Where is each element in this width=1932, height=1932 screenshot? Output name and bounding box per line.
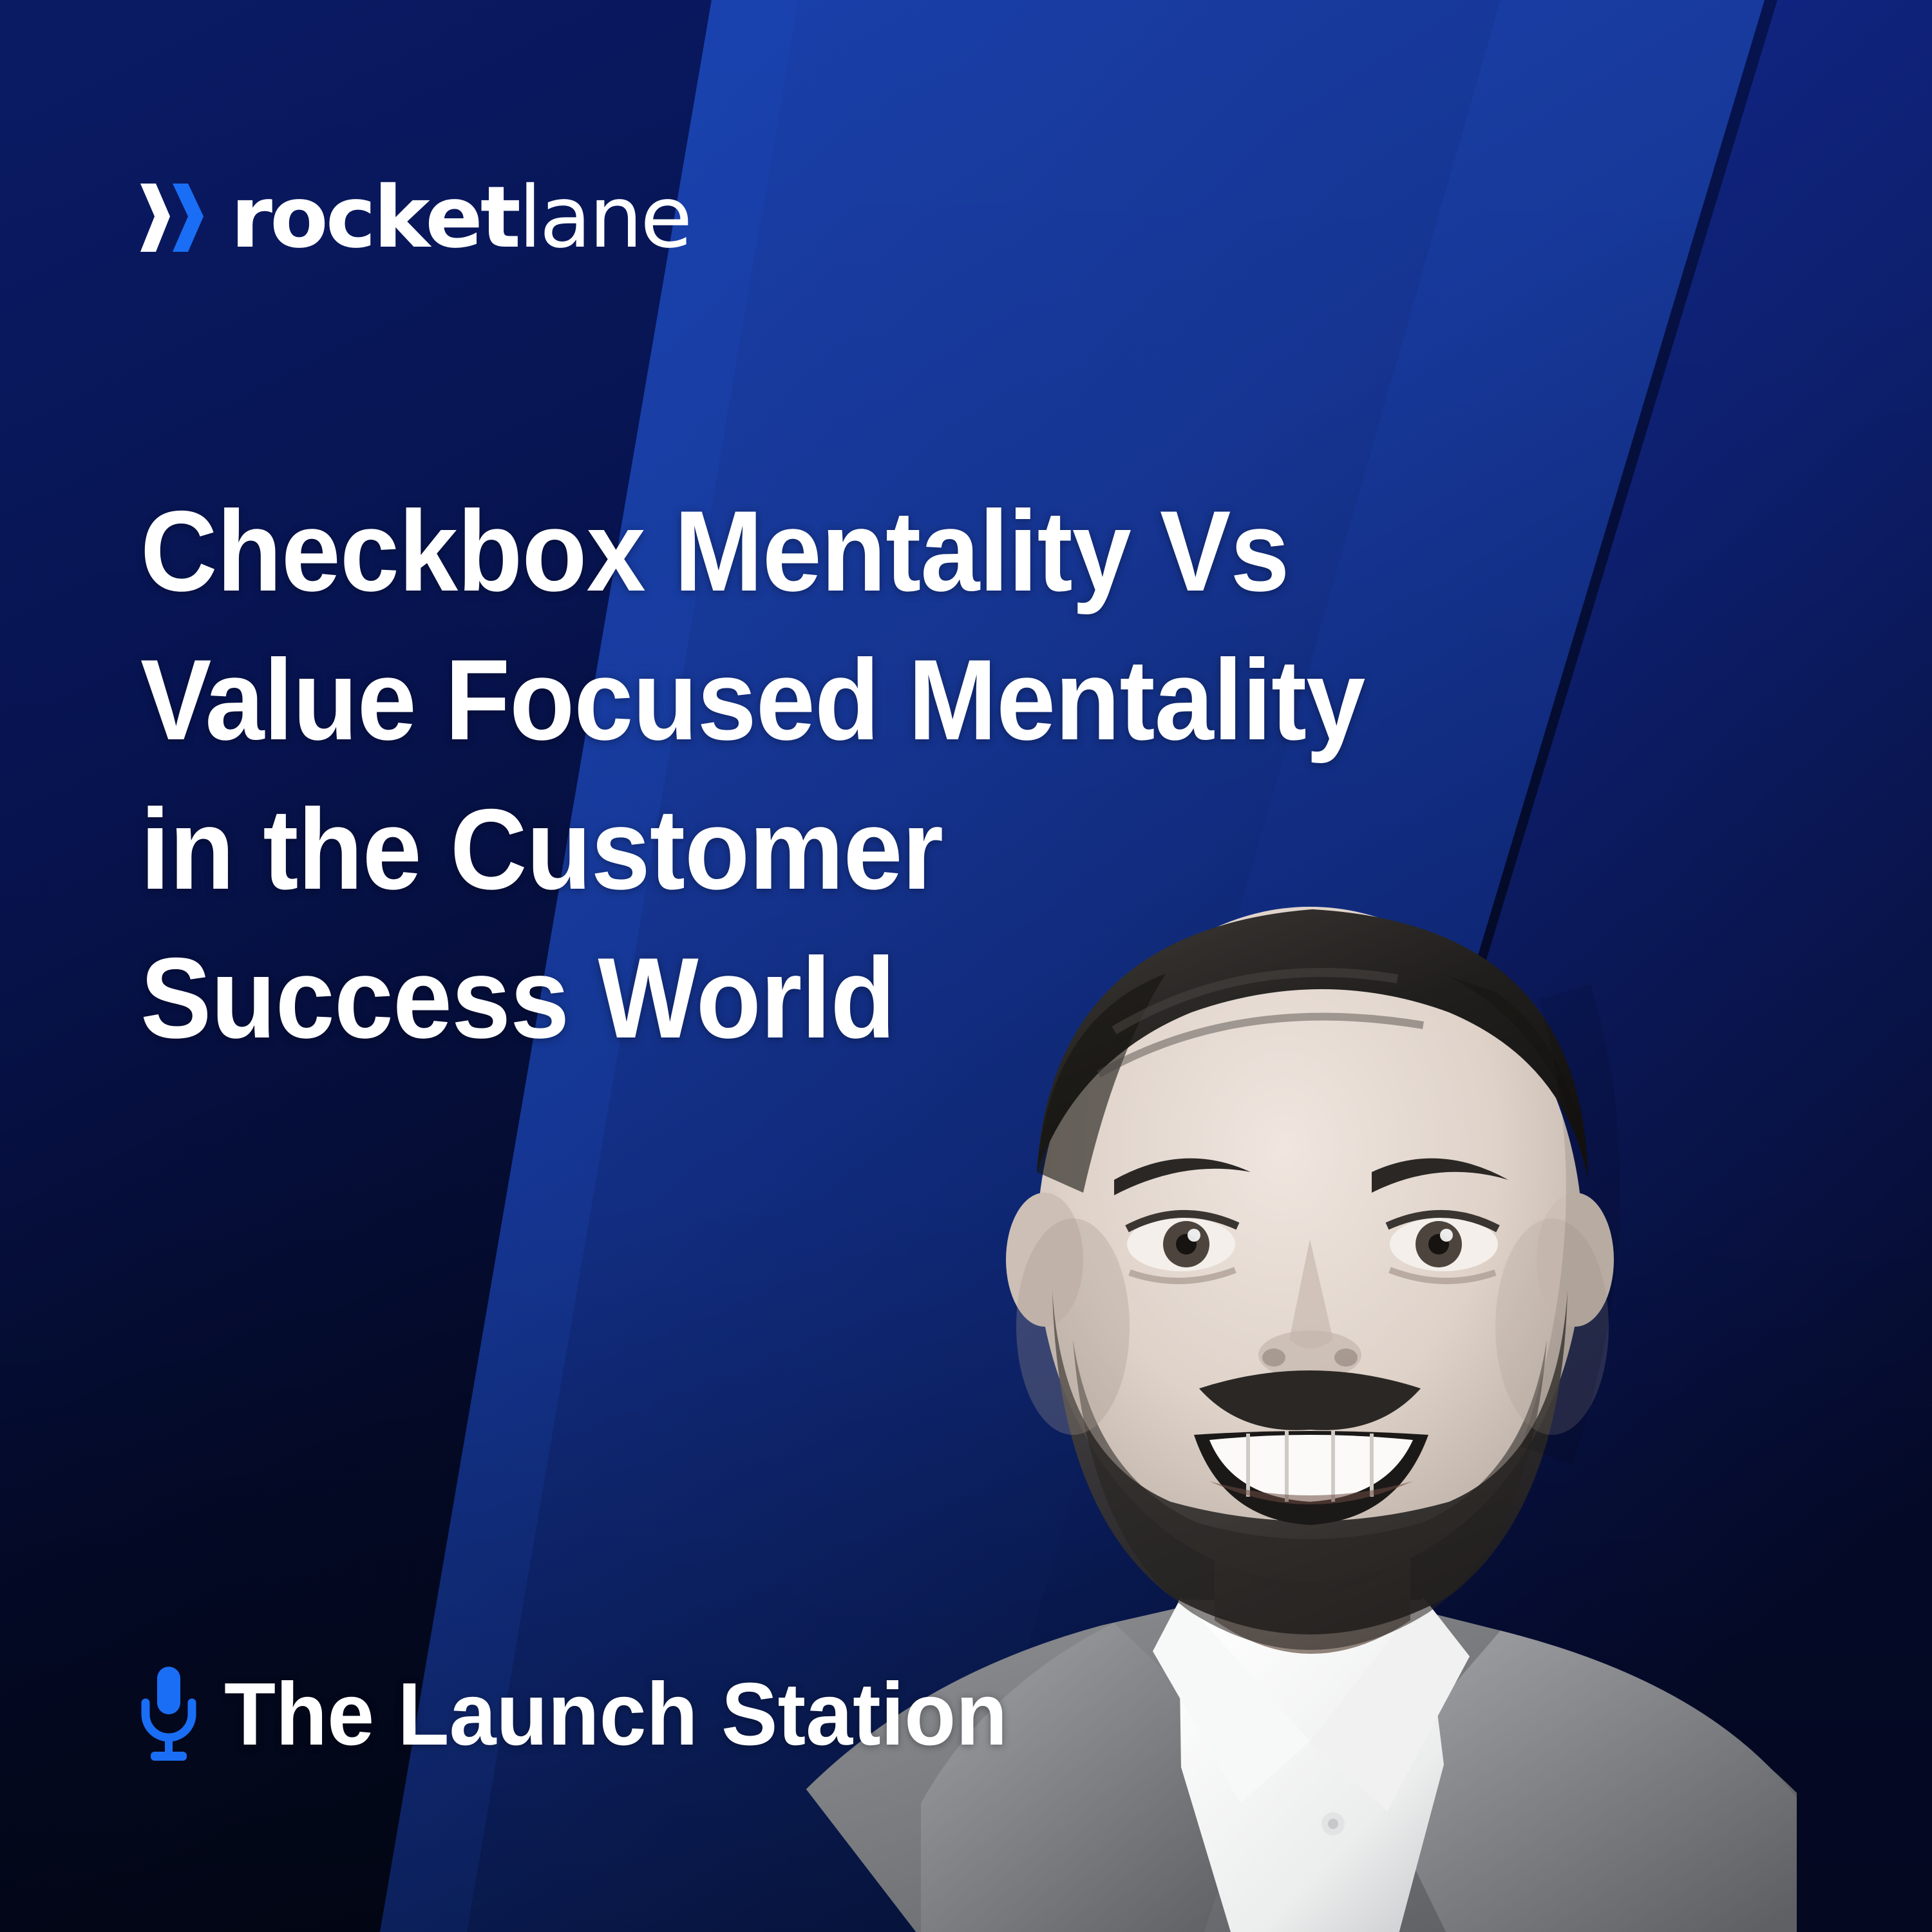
logo-word-rocket: rocket <box>231 175 518 260</box>
title-line-2: Value Focused Mentality <box>140 625 1542 774</box>
show-name-row: The Launch Station <box>138 1665 1048 1763</box>
show-name-label: The Launch Station <box>224 1670 1007 1759</box>
episode-title: Checkbox Mentality Vs Value Focused Ment… <box>140 477 1542 1073</box>
title-line-3: in the Customer <box>140 775 1542 923</box>
podcast-cover-art: rocketlane Checkbox Mentality Vs Value F… <box>0 0 1932 1932</box>
rocketlane-logo[interactable]: rocketlane <box>137 175 690 260</box>
logo-wordmark: rocketlane <box>231 175 690 260</box>
double-chevron-icon <box>137 180 209 256</box>
title-line-1: Checkbox Mentality Vs <box>140 477 1542 625</box>
microphone-icon <box>138 1665 200 1763</box>
title-line-4: Success World <box>140 923 1542 1072</box>
logo-word-lane: lane <box>518 175 690 260</box>
